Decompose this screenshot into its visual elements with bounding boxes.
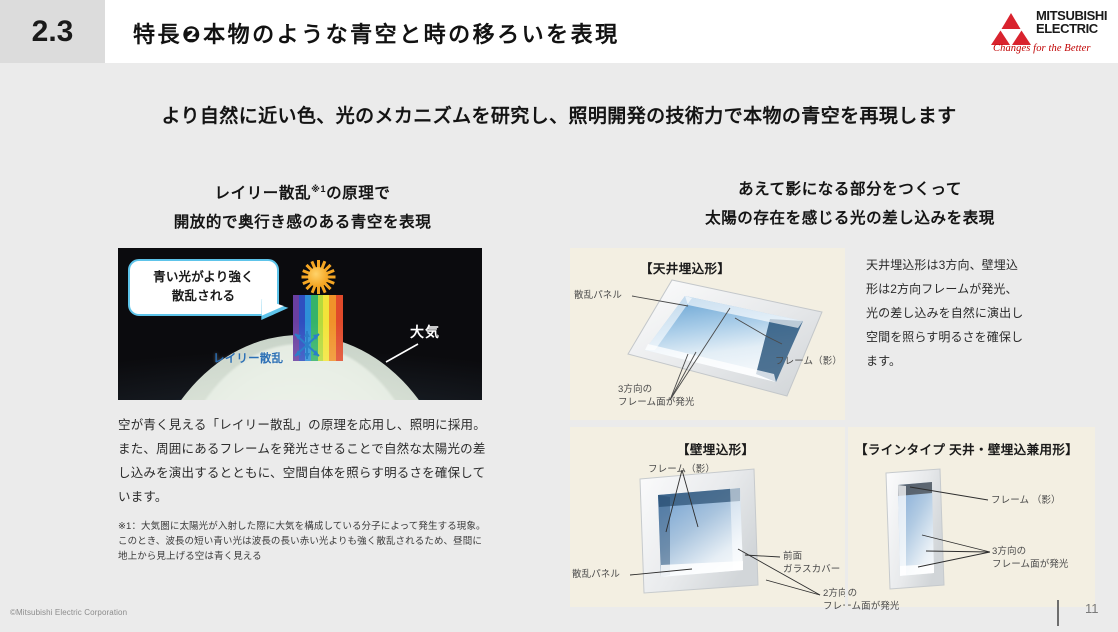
- panel-gap-divider: [845, 427, 848, 607]
- callout-line-three-direction-line2: フレーム面が発光: [992, 558, 1069, 571]
- callout-frame-shadow: フレーム（影）: [775, 355, 842, 368]
- left-heading-term: レイリー散乱: [215, 185, 312, 202]
- bubble-text: 青い光がより強く 散乱される: [130, 268, 277, 306]
- logo-wordmark: MITSUBISHI ELECTRIC: [1036, 10, 1107, 35]
- left-column-heading: レイリー散乱※1の原理で 開放的で奥行き感のある青空を表現: [120, 175, 485, 237]
- bottom-figures-panel: 【壁埋込形】: [570, 427, 1095, 607]
- atmosphere-label: 大気: [410, 322, 440, 342]
- callout-line-frame-shadow: フレーム （影）: [991, 494, 1061, 507]
- atmosphere-leader-line: [386, 342, 420, 364]
- left-heading-line-2: 開放的で奥行き感のある青空を表現: [120, 208, 485, 237]
- right-column-heading: あえて影になる部分をつくって 太陽の存在を感じる光の差し込みを表現: [600, 175, 1100, 233]
- sun-icon: [301, 260, 335, 294]
- callout-three-direction-line2: フレーム面が発光: [618, 396, 695, 409]
- page-number-divider: [1057, 600, 1059, 626]
- section-number: 2.3: [0, 0, 105, 63]
- slide-subtitle: より自然に近い色、光のメカニズムを研究し、照明開発の技術力で本物の青空を再現しま…: [0, 101, 1118, 128]
- left-heading-line-1: レイリー散乱※1の原理で: [120, 175, 485, 208]
- scatter-arrows-icon: [286, 330, 328, 360]
- line-type-callout-leaders: [570, 427, 1095, 607]
- mitsubishi-electric-logo: MITSUBISHI ELECTRIC Changes for the Bett…: [984, 9, 1112, 57]
- copyright-text: ©Mitsubishi Electric Corporation: [10, 608, 127, 617]
- callout-line-three-direction-line1: 3方向の: [992, 545, 1026, 558]
- rayleigh-label: レイリー散乱: [213, 350, 283, 366]
- footnote-marker: ※1: [311, 184, 326, 194]
- bubble-line-1: 青い光がより強く: [130, 268, 277, 287]
- right-heading-line-2: 太陽の存在を感じる光の差し込みを表現: [600, 204, 1100, 233]
- right-heading-line-1: あえて影になる部分をつくって: [600, 175, 1100, 204]
- header-title-bar: 特長❷本物のような青空と時の移ろいを表現: [105, 0, 1118, 63]
- slide-header: 2.3 特長❷本物のような青空と時の移ろいを表現 MITSUBISHI ELEC…: [0, 0, 1118, 63]
- slide-root: 2.3 特長❷本物のような青空と時の移ろいを表現 MITSUBISHI ELEC…: [0, 0, 1118, 632]
- left-footnote: ※1：大気圏に太陽光が入射した際に大気を構成している分子によって発生する現象。こ…: [118, 519, 486, 564]
- logo-tagline: Changes for the Better: [993, 43, 1091, 54]
- right-body-text: 天井埋込形は3方向、壁埋込形は2方向フレームが発光、光の差し込みを自然に演出し空…: [866, 253, 1026, 373]
- callout-diffusion-panel: 散乱パネル: [574, 289, 622, 302]
- blue-light-callout-bubble: 青い光がより強く 散乱される: [128, 259, 279, 316]
- left-heading-suffix: の原理で: [326, 185, 390, 202]
- rayleigh-scattering-figure: レイリー散乱 青い光がより強く 散乱される 大気: [118, 248, 482, 400]
- logo-line-2: ELECTRIC: [1036, 22, 1107, 35]
- three-diamond-icon: [990, 13, 1032, 45]
- callout-three-direction-line1: 3方向の: [618, 383, 652, 396]
- ceiling-callout-leaders: [570, 248, 845, 420]
- bubble-line-2: 散乱される: [130, 287, 277, 306]
- ceiling-recessed-panel: 【天井埋込形】: [570, 248, 845, 420]
- page-number: 11: [1085, 601, 1099, 616]
- page-title: 特長❷本物のような青空と時の移ろいを表現: [133, 17, 620, 49]
- left-body-text: 空が青く見える「レイリー散乱」の原理を応用し、照明に採用。また、周囲にあるフレー…: [118, 413, 490, 509]
